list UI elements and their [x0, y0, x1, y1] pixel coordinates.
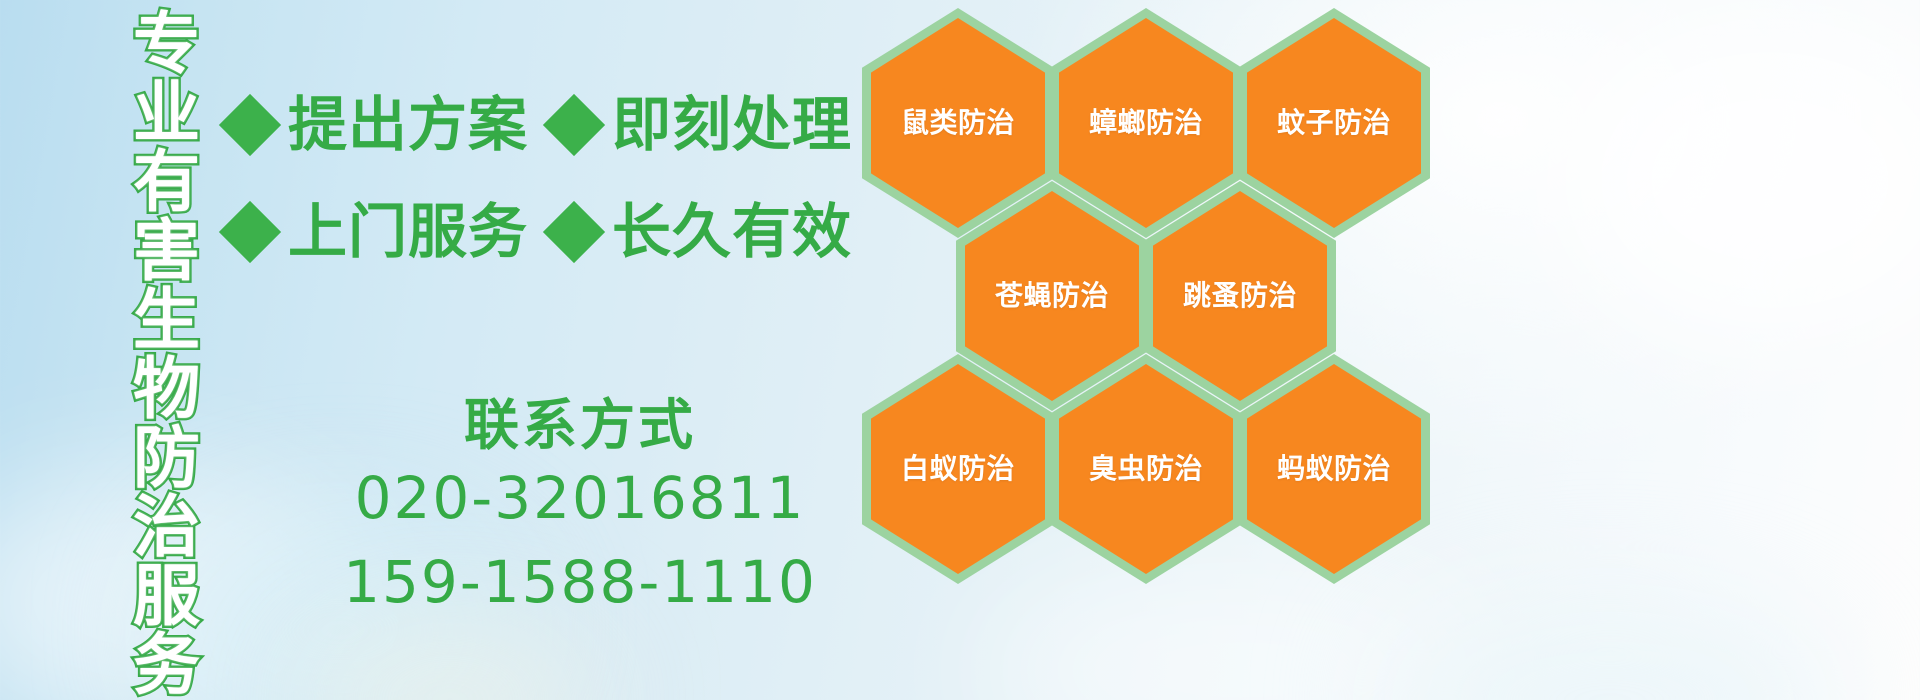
feature-item-immediate-handling: 即刻处理 [552, 95, 852, 154]
hex-inner: 蚊子防治 [1247, 18, 1421, 228]
diamond-bullet-icon [543, 200, 605, 262]
service-label: 蟑螂防治 [1089, 109, 1203, 137]
hex-inner: 蚂蚁防治 [1247, 364, 1421, 574]
feature-item-propose-plan: 提出方案 [228, 95, 528, 154]
hex-inner: 跳蚤防治 [1153, 191, 1327, 401]
service-label: 蚂蚁防治 [1277, 455, 1391, 483]
service-label: 鼠类防治 [901, 109, 1015, 137]
feature-item-onsite-service: 上门服务 [228, 202, 528, 261]
service-label: 臭虫防治 [1089, 455, 1203, 483]
service-label: 跳蚤防治 [1183, 282, 1297, 310]
diamond-bullet-icon [219, 93, 281, 155]
background-blob [300, 620, 600, 700]
feature-list: 提出方案 即刻处理 上门服务 长久有效 [228, 78, 868, 278]
feature-label: 即刻处理 [612, 95, 852, 154]
vertical-headline: 专业有害生物防治服务 [104, 8, 194, 568]
contact-title: 联系方式 [300, 395, 860, 456]
service-label: 白蚁防治 [901, 455, 1015, 483]
service-label: 蚊子防治 [1277, 109, 1391, 137]
hex-inner: 苍蝇防治 [965, 191, 1139, 401]
hex-inner: 蟑螂防治 [1059, 18, 1233, 228]
feature-row: 提出方案 即刻处理 [228, 78, 868, 171]
service-honeycomb: 鼠类防治 蟑螂防治 蚊子防治 苍蝇防治 跳蚤防治 白蚁防治 臭虫防治 蚂蚁防治 [856, 0, 1476, 580]
contact-block: 联系方式 020-32016811 159-1588-1110 [300, 395, 860, 624]
service-label: 苍蝇防治 [995, 282, 1109, 310]
background-blob [1380, 600, 1840, 700]
hex-inner: 鼠类防治 [871, 18, 1045, 228]
hex-inner: 白蚁防治 [871, 364, 1045, 574]
feature-label: 长久有效 [612, 202, 852, 261]
diamond-bullet-icon [543, 93, 605, 155]
background-blob [980, 560, 1500, 700]
hex-inner: 臭虫防治 [1059, 364, 1233, 574]
feature-label: 提出方案 [288, 95, 528, 154]
contact-phone-landline[interactable]: 020-32016811 [300, 456, 860, 540]
background-blob [1560, 20, 1920, 340]
feature-label: 上门服务 [288, 202, 528, 261]
contact-phone-mobile[interactable]: 159-1588-1110 [300, 540, 860, 624]
diamond-bullet-icon [219, 200, 281, 262]
feature-item-long-lasting: 长久有效 [552, 202, 852, 261]
feature-row: 上门服务 长久有效 [228, 185, 868, 278]
